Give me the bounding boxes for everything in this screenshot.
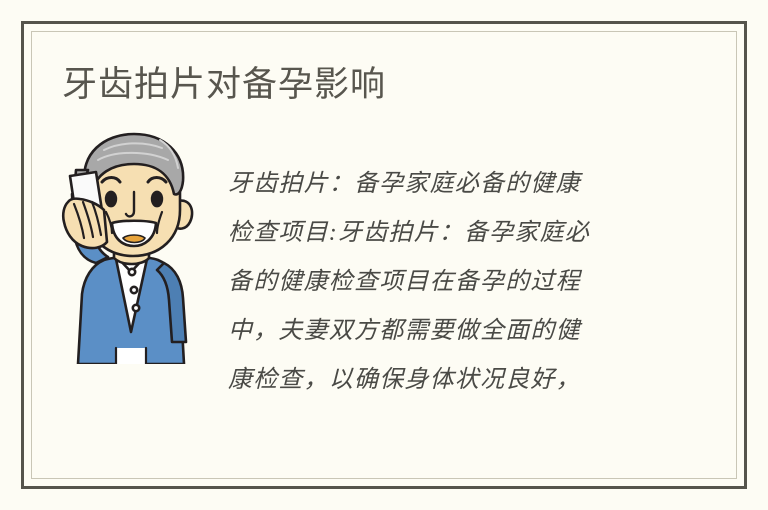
body-line: 牙齿拍片：备孕家庭必备的健康 [228, 160, 668, 209]
body-line: 康检查，以确保身体状况良好， [228, 356, 668, 405]
body-line: 备的健康检查项目在备孕的过程 [228, 258, 668, 307]
body-line: 中，夫妻双方都需要做全面的健 [228, 307, 668, 356]
hand-shape [63, 199, 107, 248]
article-body: 牙齿拍片：备孕家庭必备的健康 检查项目:牙齿拍片：备孕家庭必 备的健康检查项目在… [228, 160, 668, 405]
page-title: 牙齿拍片对备孕影响 [62, 62, 386, 108]
illustration-elderly-man-holding-phone [52, 132, 210, 364]
article-card: 牙齿拍片对备孕影响 [0, 0, 768, 510]
body-line: 检查项目:牙齿拍片：备孕家庭必 [228, 209, 668, 258]
